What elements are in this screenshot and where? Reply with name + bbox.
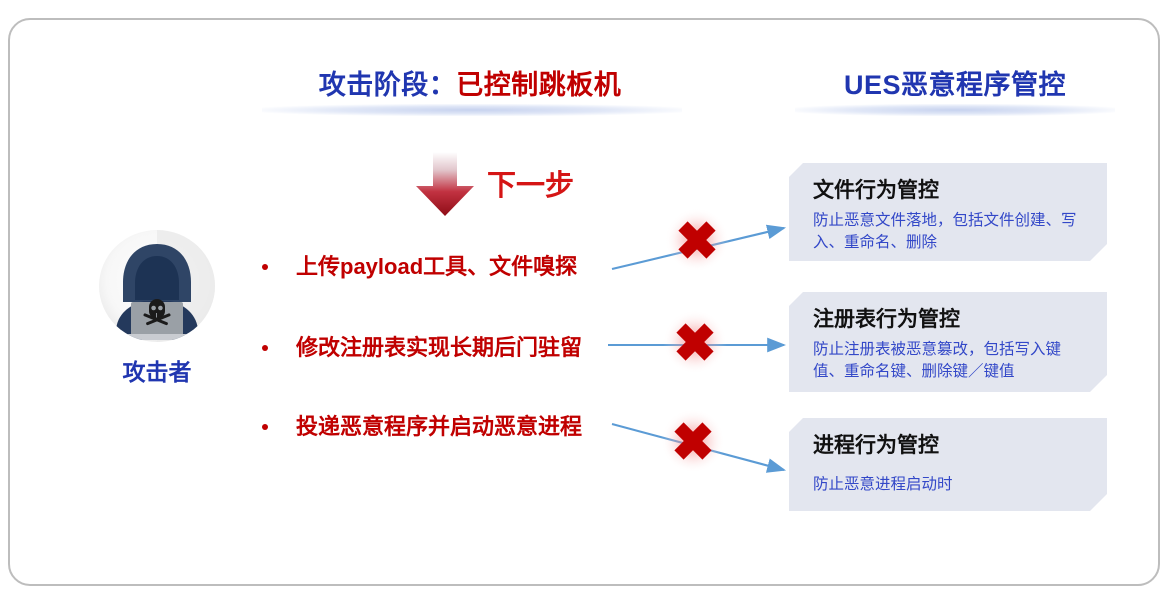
control-card-description: 防止注册表被恶意篡改，包括写入键值、重命名键、删除键／键值 (813, 339, 1087, 383)
control-card-description: 防止恶意进程启动时 (813, 474, 1087, 496)
control-card-title: 注册表行为管控 (813, 306, 1087, 334)
down-arrow-icon (412, 150, 478, 218)
control-card-title: 文件行为管控 (813, 177, 1087, 205)
right-heading-text: UES恶意程序管控 (844, 68, 1066, 102)
left-heading-highlight: 已控制跳板机 (456, 70, 621, 100)
left-heading-underline (262, 104, 682, 116)
left-column-heading: 攻击阶段：已控制跳板机 (255, 68, 685, 102)
left-heading-prefix: 攻击阶段： (319, 70, 457, 100)
bullet-dot-icon (262, 264, 268, 270)
right-heading-underline (795, 104, 1115, 116)
control-card-description: 防止恶意文件落地，包括文件创建、写入、重命名、删除 (813, 210, 1087, 254)
attack-step-text: 投递恶意程序并启动恶意进程 (296, 414, 582, 440)
attack-step-text: 修改注册表实现长期后门驻留 (296, 335, 582, 361)
attack-step-item: 上传payload工具、文件嗅探 (262, 248, 662, 286)
control-card-title: 进程行为管控 (813, 432, 1087, 460)
bullet-dot-icon (262, 345, 268, 351)
control-card: 文件行为管控 防止恶意文件落地，包括文件创建、写入、重命名、删除 (789, 163, 1107, 261)
attack-step-text: 上传payload工具、文件嗅探 (296, 254, 577, 280)
attack-step-item: 修改注册表实现长期后门驻留 (262, 329, 662, 367)
slide-canvas: 攻击阶段：已控制跳板机 UES恶意程序管控 (0, 0, 1176, 606)
control-card: 进程行为管控 防止恶意进程启动时 (789, 418, 1107, 511)
right-column-heading: UES恶意程序管控 (800, 68, 1110, 102)
attacker-label: 攻击者 (78, 353, 236, 387)
bullet-dot-icon (262, 424, 268, 430)
next-step-label: 下一步 (487, 162, 574, 204)
control-card: 注册表行为管控 防止注册表被恶意篡改，包括写入键值、重命名键、删除键／键值 (789, 292, 1107, 392)
hacker-avatar-icon (86, 228, 228, 344)
attacker-group: 攻击者 (78, 228, 236, 398)
attack-step-item: 投递恶意程序并启动恶意进程 (262, 408, 662, 446)
